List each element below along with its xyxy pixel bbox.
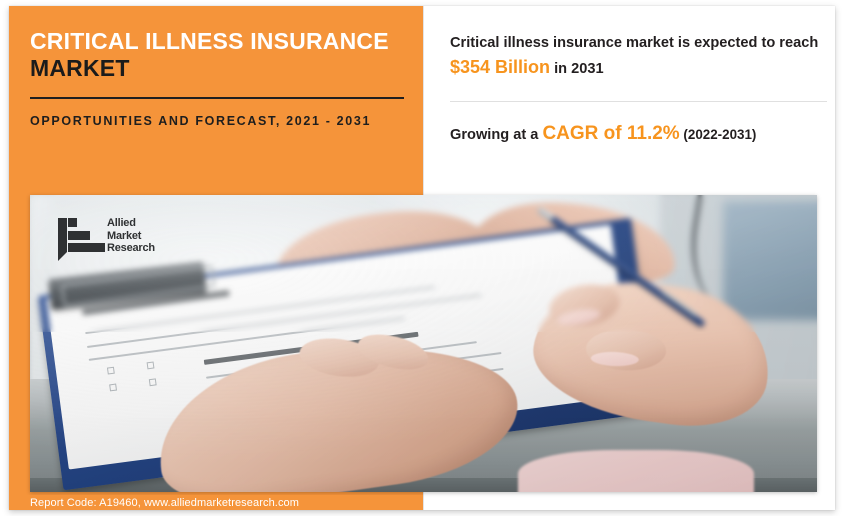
logo-wordmark: Allied Market Research bbox=[107, 218, 155, 254]
cagr-prefix: Growing at a bbox=[450, 127, 542, 143]
fingernail bbox=[556, 306, 602, 327]
market-size-suffix: in 2031 bbox=[550, 61, 604, 77]
form-checkbox bbox=[107, 366, 115, 374]
page-subtitle: OPPORTUNITIES AND FORECAST, 2021 - 2031 bbox=[30, 112, 405, 130]
fingernail bbox=[590, 351, 639, 367]
page-title: CRITICAL ILLNESS INSURANCE MARKET bbox=[30, 28, 406, 82]
form-checkbox bbox=[149, 378, 157, 386]
logo-word-market: Market bbox=[107, 231, 155, 242]
report-cover-page: CRITICAL ILLNESS INSURANCE MARKET OPPORT… bbox=[0, 0, 847, 516]
page-title-line1: CRITICAL ILLNESS INSURANCE bbox=[30, 28, 389, 54]
form-checkbox bbox=[147, 361, 155, 369]
cagr-statement: Growing at a CAGR of 11.2% (2022-2031) bbox=[450, 123, 826, 145]
logo-bar bbox=[68, 243, 105, 252]
cover-photo: Allied Market Research bbox=[30, 195, 817, 492]
title-divider bbox=[30, 97, 404, 99]
report-card: CRITICAL ILLNESS INSURANCE MARKET OPPORT… bbox=[9, 6, 835, 510]
logo-bar bbox=[68, 218, 77, 227]
logo-word-research: Research bbox=[107, 243, 155, 254]
page-title-line2: MARKET bbox=[30, 55, 130, 81]
logo-bars bbox=[68, 218, 105, 252]
form-checkbox bbox=[110, 384, 118, 392]
speech-bubble-icon bbox=[58, 218, 67, 252]
highlights-block: Critical illness insurance market is exp… bbox=[450, 33, 826, 160]
highlights-divider bbox=[450, 101, 827, 102]
logo-word-allied: Allied bbox=[107, 218, 155, 229]
report-code-caption: Report Code: A19460, www.alliedmarketres… bbox=[30, 497, 299, 509]
market-size-statement: Critical illness insurance market is exp… bbox=[450, 33, 826, 80]
market-size-prefix: Critical illness insurance market is exp… bbox=[450, 35, 818, 51]
logo-bar bbox=[68, 231, 90, 240]
allied-market-research-logo: Allied Market Research bbox=[58, 218, 155, 254]
photo-sleeve bbox=[518, 450, 754, 492]
hero-text-block: CRITICAL ILLNESS INSURANCE MARKET OPPORT… bbox=[30, 28, 406, 130]
footer-bar: Report Code: A19460, www.alliedmarketres… bbox=[9, 495, 423, 510]
finger bbox=[585, 328, 667, 372]
cagr-period: (2022-2031) bbox=[680, 127, 757, 142]
market-size-value: $354 Billion bbox=[450, 57, 550, 77]
cagr-value: CAGR of 11.2% bbox=[542, 123, 679, 144]
